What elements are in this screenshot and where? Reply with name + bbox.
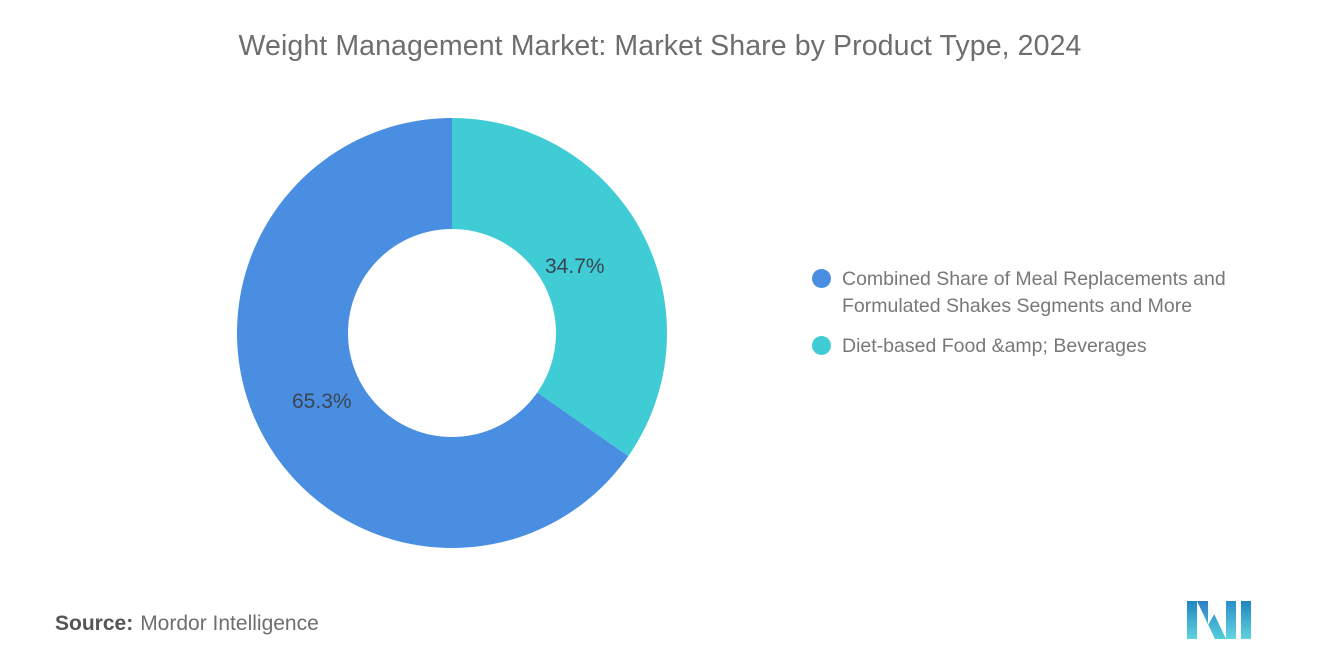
mordor-intelligence-logo-icon (1184, 599, 1254, 641)
chart-title: Weight Management Market: Market Share b… (0, 30, 1320, 63)
slice-value-label-diet-based: 34.7% (545, 255, 605, 279)
slice-value-label-combined-share: 65.3% (292, 390, 352, 414)
source-value: Mordor Intelligence (140, 612, 319, 635)
legend-item-combined-share[interactable]: Combined Share of Meal Replacements and … (812, 266, 1298, 320)
source-label: Source: (55, 612, 133, 635)
brand-logo-svg (1184, 599, 1254, 641)
donut-chart-svg (237, 118, 667, 548)
legend-swatch-icon (812, 336, 831, 355)
legend-item-diet-based[interactable]: Diet-based Food &amp; Beverages (812, 333, 1298, 360)
donut-center-hole (348, 229, 556, 437)
legend-item-label: Combined Share of Meal Replacements and … (842, 266, 1292, 320)
legend-swatch-icon (812, 269, 831, 288)
source-line: Source:Mordor Intelligence (55, 612, 319, 636)
donut-chart (237, 118, 667, 548)
legend-item-label: Diet-based Food &amp; Beverages (842, 333, 1147, 360)
chart-canvas: Weight Management Market: Market Share b… (0, 0, 1320, 665)
chart-legend: Combined Share of Meal Replacements and … (812, 266, 1298, 373)
